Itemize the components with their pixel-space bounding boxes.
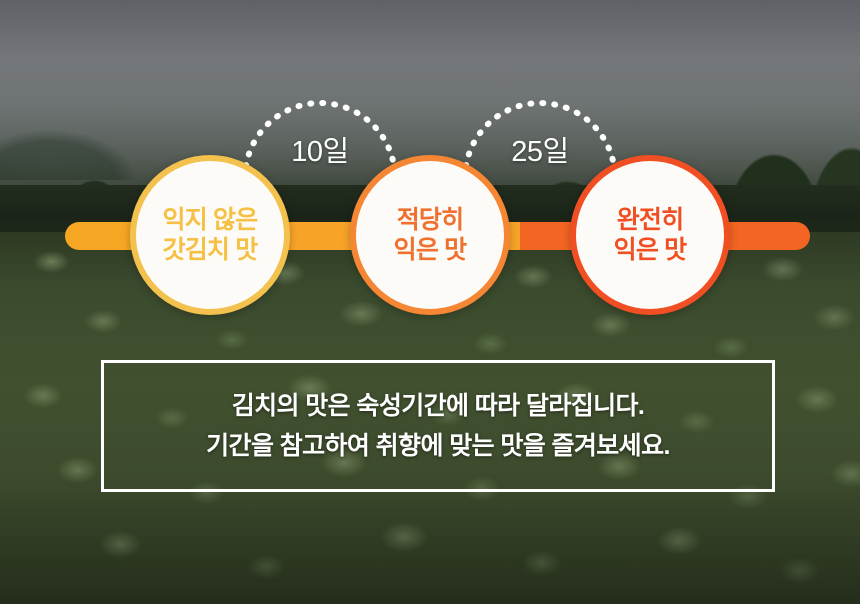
timeline-node-fully-ripe: 완전히 익은 맛 <box>570 155 730 315</box>
caption-box: 김치의 맛은 숙성기간에 따라 달라집니다. 기간을 참고하여 취향에 맞는 맛… <box>101 360 775 492</box>
timeline-node-label-1: 익지 않은 갓김치 맛 <box>163 205 258 266</box>
interval-label-2: 25일 <box>480 138 600 167</box>
timeline-node-label-3: 완전히 익은 맛 <box>614 205 687 266</box>
caption-line-1: 김치의 맛은 숙성기간에 따라 달라집니다. <box>232 386 645 427</box>
fermentation-timeline: 10일 25일 익지 않은 갓김치 맛 적당히 익은 맛 완전히 익은 맛 <box>0 0 860 604</box>
kimchi-fermentation-banner: 10일 25일 익지 않은 갓김치 맛 적당히 익은 맛 완전히 익은 맛 김치… <box>0 0 860 604</box>
interval-label-1: 10일 <box>260 138 380 167</box>
caption-line-2: 기간을 참고하여 취향에 맞는 맛을 즐겨보세요. <box>206 426 670 467</box>
timeline-node-unripe: 익지 않은 갓김치 맛 <box>130 155 290 315</box>
timeline-node-label-2: 적당히 익은 맛 <box>394 205 467 266</box>
timeline-node-moderately-ripe: 적당히 익은 맛 <box>350 155 510 315</box>
